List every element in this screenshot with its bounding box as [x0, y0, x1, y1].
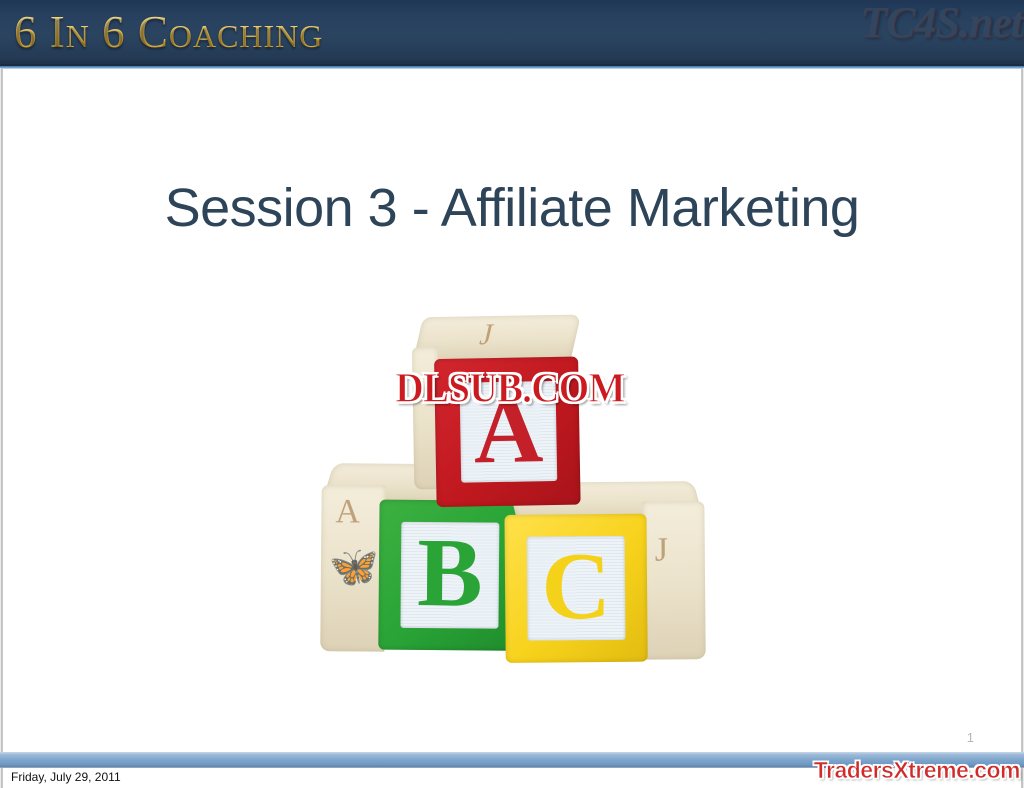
block-c-engraved-letter: J	[655, 531, 669, 569]
header-underline-divider	[0, 66, 1024, 69]
block-a-engraved-letter: J	[477, 318, 497, 352]
footer-date: Friday, July 29, 2011	[11, 770, 121, 784]
brand-title: 6 In 6 Coaching	[14, 6, 323, 58]
block-c-letter: C	[541, 538, 611, 635]
image-watermark: DLSUB.COM	[377, 368, 644, 410]
block-b-letter: B	[417, 524, 483, 623]
slide-number: 1	[967, 730, 974, 745]
site-watermark-logo: TC4S.net	[860, 0, 1022, 48]
presentation-slide: 6 In 6 Coaching TC4S.net Session 3 - Aff…	[0, 0, 1024, 788]
block-c: J C	[504, 481, 706, 673]
bee-engraving-icon: 🦋	[329, 543, 379, 590]
slide-header-bar: 6 In 6 Coaching TC4S.net	[0, 0, 1024, 66]
block-c-right-face: J	[642, 501, 705, 660]
partner-logo: TradersXtreme.com	[814, 758, 1020, 782]
block-b-engraved-letter: A	[335, 493, 360, 531]
block-b-letter-panel: B	[400, 522, 499, 629]
page-title: Session 3 - Affiliate Marketing	[0, 176, 1024, 240]
block-c-letter-panel: C	[527, 536, 626, 641]
block-b-left-face: A 🦋	[320, 485, 385, 652]
